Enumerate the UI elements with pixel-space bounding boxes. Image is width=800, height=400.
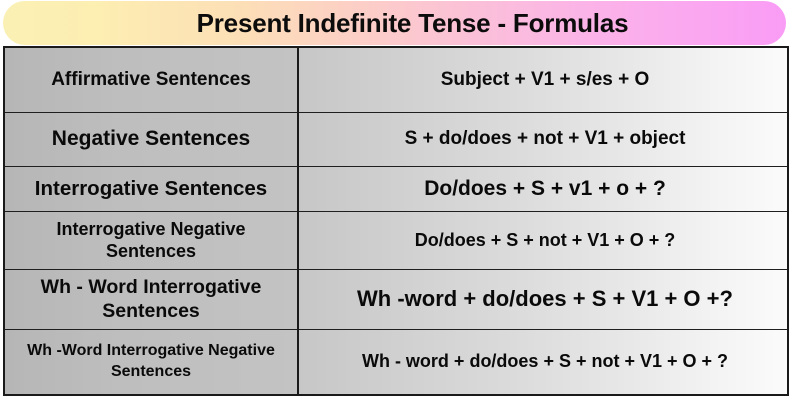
- table-row: Affirmative Sentences Subject + V1 + s/e…: [4, 47, 788, 112]
- formulas-table: Affirmative Sentences Subject + V1 + s/e…: [3, 46, 789, 396]
- table-row: Wh -Word Interrogative Negative Sentence…: [4, 329, 788, 395]
- table-row: Interrogative Negative Sentences Do/does…: [4, 211, 788, 269]
- sentence-type-label: Wh - Word Interrogative Sentences: [4, 269, 298, 329]
- formula-value: Do/does + S + v1 + o + ?: [298, 166, 788, 211]
- formula-value: Wh - word + do/does + S + not + V1 + O +…: [298, 329, 788, 395]
- formula-value: Do/does + S + not + V1 + O + ?: [298, 211, 788, 269]
- table-row: Wh - Word Interrogative Sentences Wh -wo…: [4, 269, 788, 329]
- sentence-type-label: Interrogative Negative Sentences: [4, 211, 298, 269]
- title-banner: Present Indefinite Tense - Formulas: [3, 1, 786, 45]
- page-title: Present Indefinite Tense - Formulas: [161, 10, 629, 36]
- sentence-type-label: Negative Sentences: [4, 112, 298, 166]
- formula-value: S + do/does + not + V1 + object: [298, 112, 788, 166]
- table-row: Negative Sentences S + do/does + not + V…: [4, 112, 788, 166]
- sentence-type-label: Affirmative Sentences: [4, 47, 298, 112]
- formula-value: Subject + V1 + s/es + O: [298, 47, 788, 112]
- table-row: Interrogative Sentences Do/does + S + v1…: [4, 166, 788, 211]
- sentence-type-label: Interrogative Sentences: [4, 166, 298, 211]
- sentence-type-label: Wh -Word Interrogative Negative Sentence…: [4, 329, 298, 395]
- formula-value: Wh -word + do/does + S + V1 + O +?: [298, 269, 788, 329]
- tense-formulas-infographic: Present Indefinite Tense - Formulas Affi…: [0, 0, 800, 400]
